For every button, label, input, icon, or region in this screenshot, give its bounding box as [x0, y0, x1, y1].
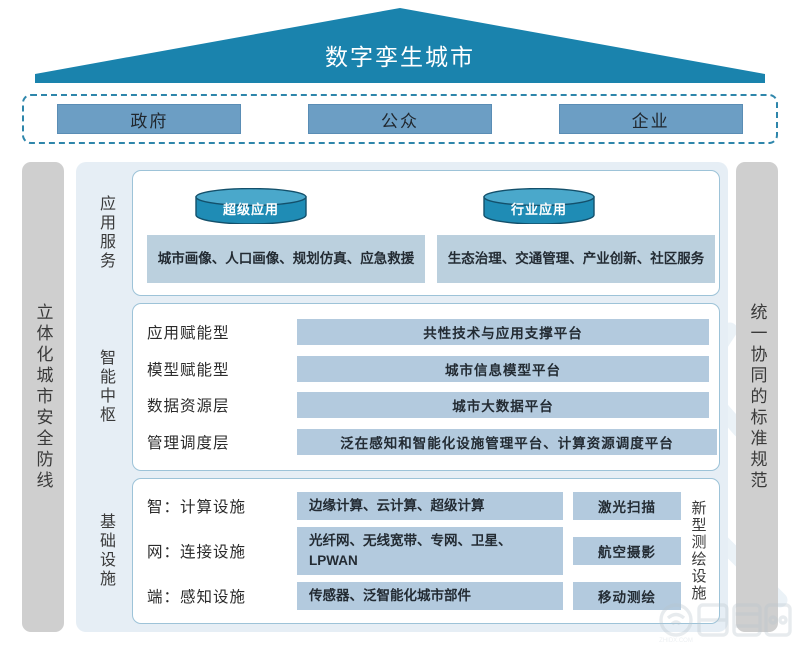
infra-row: 网：连接设施 光纤网、无线宽带、专网、卫星、LPWAN 航空摄影: [147, 527, 681, 576]
hub-row-label: 管理调度层: [147, 431, 297, 453]
application-text-super: 城市画像、人口画像、规划仿真、应急救援: [147, 235, 425, 283]
hub-row: 数据资源层 城市大数据平台: [147, 390, 709, 420]
cylinder-label: 超级应用: [195, 199, 307, 218]
pillar-right-standards: 统一协同的标准规范: [736, 162, 778, 632]
infrastructure-rows: 智：计算设施 边缘计算、云计算、超级计算 激光扫描 网：连接设施 光纤网、无线宽…: [147, 485, 681, 617]
audience-item-public[interactable]: 公众: [308, 104, 492, 134]
hub-row-value[interactable]: 泛在感知和智能化设施管理平台、计算资源调度平台: [297, 429, 717, 455]
infrastructure-side-label: 新型测绘设施: [681, 485, 715, 617]
infra-row-extra-mobile-mapping[interactable]: 移动测绘: [573, 582, 681, 610]
infra-row-label: 网：连接设施: [147, 540, 287, 562]
infrastructure-card: 智：计算设施 边缘计算、云计算、超级计算 激光扫描 网：连接设施 光纤网、无线宽…: [132, 478, 720, 624]
cylinder-icon: 超级应用: [195, 188, 307, 224]
infra-row-label: 端：感知设施: [147, 585, 287, 607]
layer-label-text: 应用服务: [93, 195, 117, 271]
infra-row: 端：感知设施 传感器、泛智能化城市部件 移动测绘: [147, 582, 681, 610]
infra-row-extra-aerial-photography[interactable]: 航空摄影: [573, 537, 681, 565]
hub-row-label: 数据资源层: [147, 394, 297, 416]
layer-label-text: 基础设施: [93, 513, 117, 589]
application-services-card: 超级应用 城市画像、人口画像、规划仿真、应急救援 行业应用 生态治理、交通管理、…: [132, 170, 720, 296]
hub-row-value[interactable]: 共性技术与应用支撑平台: [297, 319, 709, 345]
hub-row-label: 模型赋能型: [147, 358, 297, 380]
layer-intelligent-hub: 智能中枢 应用赋能型 共性技术与应用支撑平台 模型赋能型 城市信息模型平台 数据…: [84, 303, 720, 471]
intelligent-hub-card: 应用赋能型 共性技术与应用支撑平台 模型赋能型 城市信息模型平台 数据资源层 城…: [132, 303, 720, 471]
cylinder-icon: 行业应用: [483, 188, 595, 224]
layer-application-services: 应用服务 超级应用 城市画像、人口画像、规划仿真、应急救援: [84, 170, 720, 296]
layer-label-text: 智能中枢: [93, 349, 117, 425]
architecture-body: 应用服务 超级应用 城市画像、人口画像、规划仿真、应急救援: [76, 162, 728, 632]
hub-row-label: 应用赋能型: [147, 321, 297, 343]
diagram-canvas: 数字孪生城市 政府 公众 企业 立体化城市安全防线 统一协同的标准规范 应用服务: [0, 0, 800, 652]
audience-item-government[interactable]: 政府: [57, 104, 241, 134]
hub-row: 应用赋能型 共性技术与应用支撑平台: [147, 317, 709, 347]
infra-row-extra-laser-scanning[interactable]: 激光扫描: [573, 492, 681, 520]
infra-row-label: 智：计算设施: [147, 495, 287, 517]
infrastructure-side-label-text: 新型测绘设施: [688, 500, 709, 602]
layer-label-infrastructure: 基础设施: [84, 478, 126, 624]
hub-row: 管理调度层 泛在感知和智能化设施管理平台、计算资源调度平台: [147, 427, 709, 457]
infra-row-value[interactable]: 边缘计算、云计算、超级计算: [297, 492, 563, 520]
audience-item-enterprise[interactable]: 企业: [559, 104, 743, 134]
application-text-industry: 生态治理、交通管理、产业创新、社区服务: [437, 235, 715, 283]
layer-label-application-services: 应用服务: [84, 170, 126, 296]
infra-row: 智：计算设施 边缘计算、云计算、超级计算 激光扫描: [147, 492, 681, 520]
hub-row-value[interactable]: 城市大数据平台: [297, 392, 709, 418]
cylinder-label: 行业应用: [483, 199, 595, 218]
pillar-left-label: 立体化城市安全防线: [31, 303, 56, 492]
audience-group: 政府 公众 企业: [22, 94, 778, 144]
layer-infrastructure: 基础设施 智：计算设施 边缘计算、云计算、超级计算 激光扫描 网：连接设施 光纤…: [84, 478, 720, 624]
svg-text:ZHIDX.COM: ZHIDX.COM: [659, 638, 693, 644]
pillar-left-security-line: 立体化城市安全防线: [22, 162, 64, 632]
infra-row-value[interactable]: 光纤网、无线宽带、专网、卫星、LPWAN: [297, 527, 563, 576]
roof-shape: 数字孪生城市: [35, 8, 765, 83]
hub-row-value[interactable]: 城市信息模型平台: [297, 356, 709, 382]
hub-row: 模型赋能型 城市信息模型平台: [147, 354, 709, 384]
pillar-right-label: 统一协同的标准规范: [745, 303, 770, 492]
infra-row-value[interactable]: 传感器、泛智能化城市部件: [297, 582, 563, 610]
application-column-industry: 行业应用 生态治理、交通管理、产业创新、社区服务: [437, 171, 715, 295]
page-title: 数字孪生城市: [35, 38, 765, 72]
layer-label-intelligent-hub: 智能中枢: [84, 303, 126, 471]
application-column-super: 超级应用 城市画像、人口画像、规划仿真、应急救援: [147, 171, 425, 295]
